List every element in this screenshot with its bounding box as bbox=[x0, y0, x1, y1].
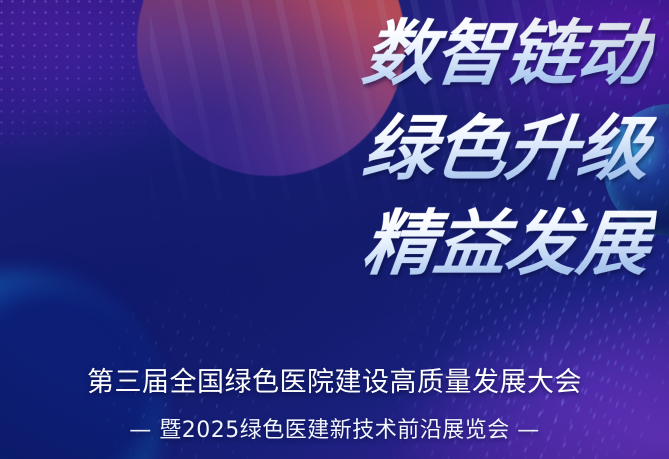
subtitle-block: 第三届全国绿色医院建设高质量发展大会 — 暨2025绿色医建新技术前沿展览会 — bbox=[0, 366, 669, 445]
headline-line-1: 数智链动 bbox=[0, 6, 659, 101]
conference-poster-banner: 数智链动 绿色升级 精益发展 第三届全国绿色医院建设高质量发展大会 — 暨202… bbox=[0, 0, 669, 459]
headline-line-3: 精益发展 bbox=[0, 196, 659, 291]
conference-title: 第三届全国绿色医院建设高质量发展大会 bbox=[0, 366, 669, 400]
exhibition-subtitle: — 暨2025绿色医建新技术前沿展览会 — bbox=[0, 417, 669, 445]
headline-line-2: 绿色升级 bbox=[0, 101, 659, 196]
headline-block: 数智链动 绿色升级 精益发展 bbox=[0, 6, 653, 291]
